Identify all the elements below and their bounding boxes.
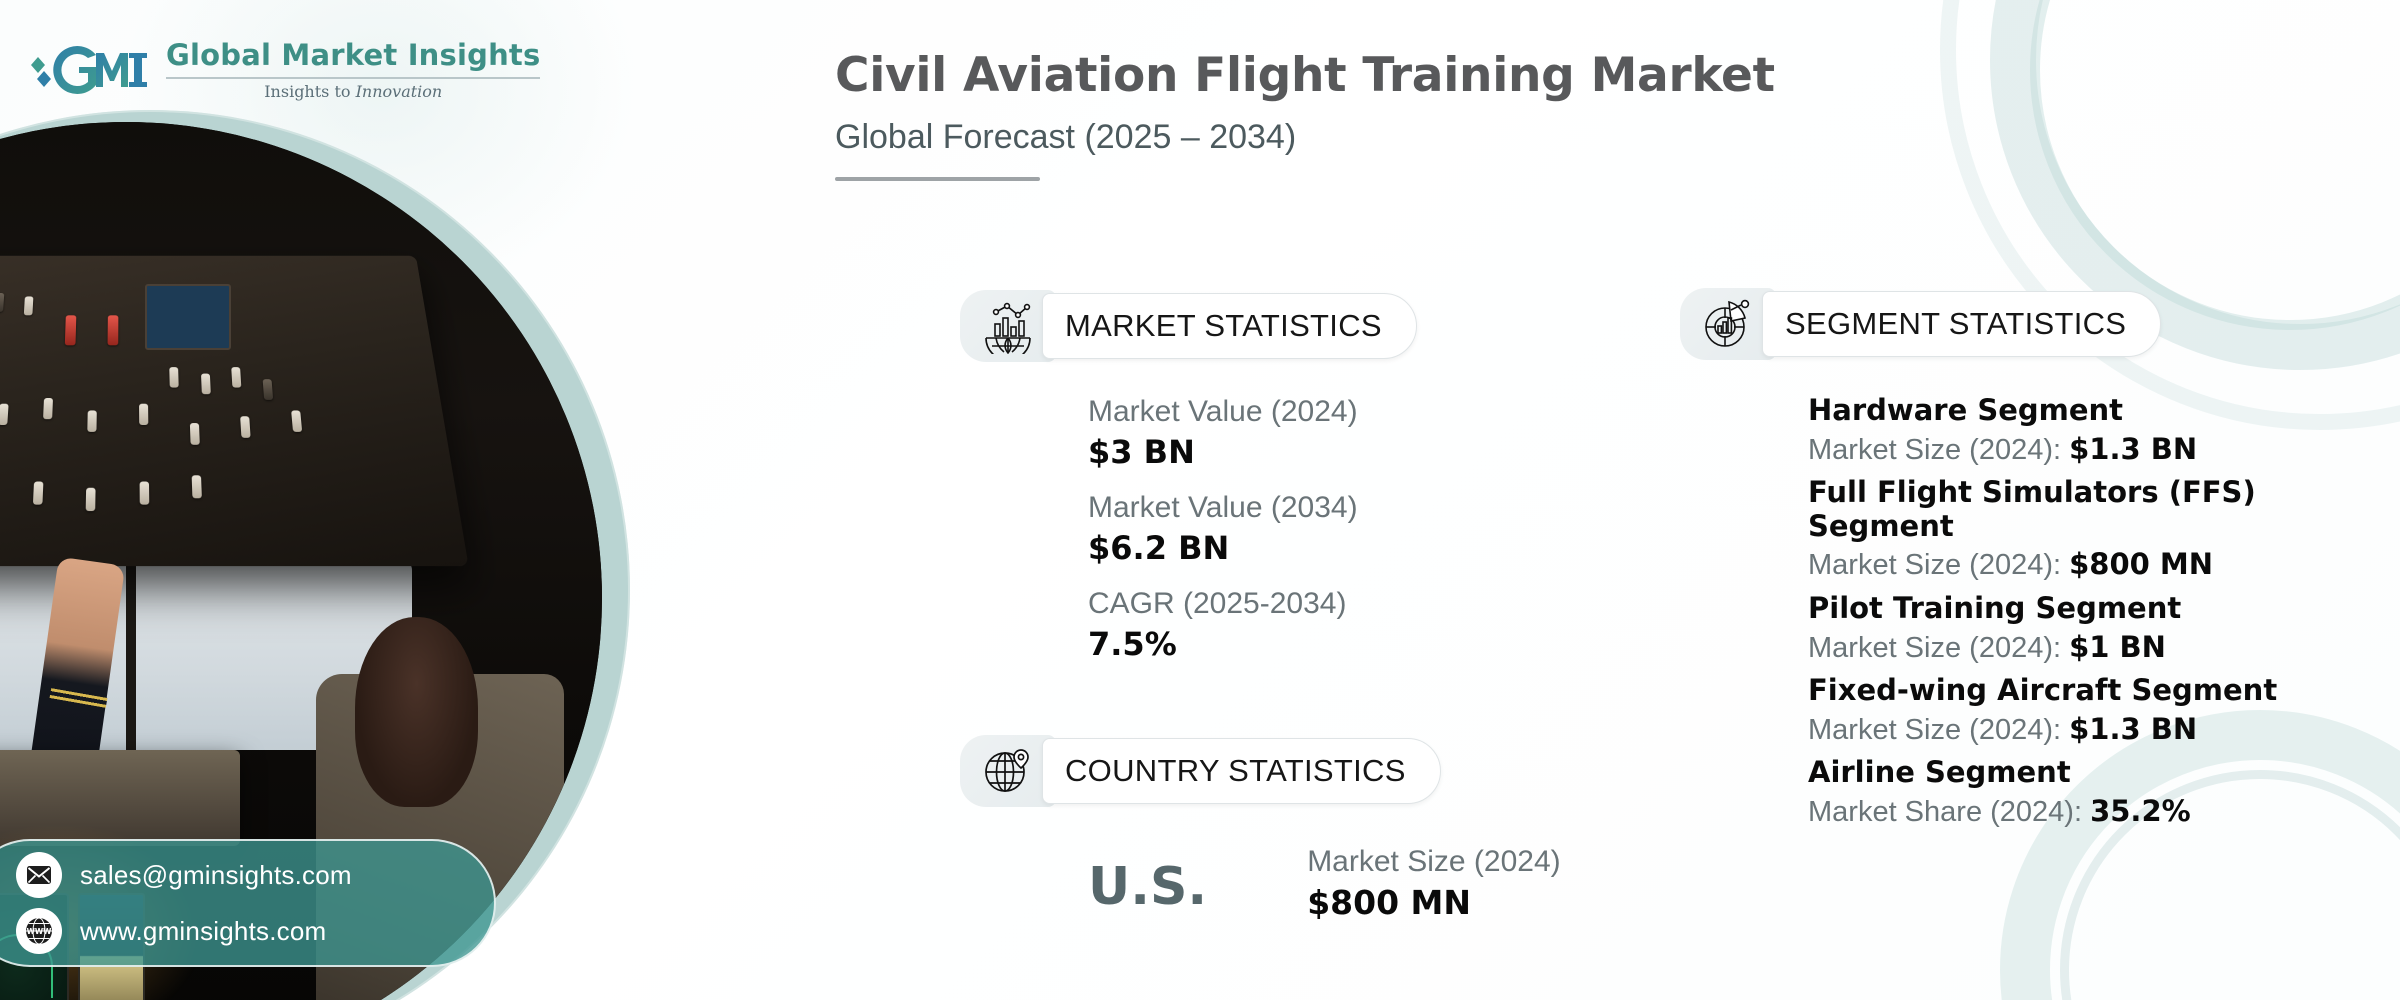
market-stat-label: Market Value (2034) <box>1088 491 1358 525</box>
country-stat-value: $800 MN <box>1307 883 1560 922</box>
segment-name: Fixed-wing Aircraft Segment <box>1808 674 2368 708</box>
brand-name: Global Market Insights <box>166 38 540 72</box>
segment-statistics-label: SEGMENT STATISTICS <box>1785 306 2126 342</box>
www-globe-icon: WWW <box>16 908 62 954</box>
tagline-italic: Innovation <box>356 82 443 101</box>
market-statistics-label: MARKET STATISTICS <box>1065 308 1382 344</box>
infographic-canvas: Global Market Insights Insights to Innov… <box>0 0 2400 1000</box>
country-stat-label: Market Size (2024) <box>1307 845 1560 879</box>
market-stat-label: CAGR (2025-2034) <box>1088 587 1358 621</box>
title-accent-rule <box>835 177 1040 181</box>
segment-item: Full Flight Simulators (FFS) Segment Mar… <box>1808 476 2368 588</box>
market-stat-row: Market Value (2024) $3 BN <box>1088 395 1358 471</box>
market-stat-row: Market Value (2034) $6.2 BN <box>1088 491 1358 567</box>
segment-item: Airline Segment Market Share (2024): 35.… <box>1808 756 2368 834</box>
segment-name: Hardware Segment <box>1808 394 2368 428</box>
market-stat-label: Market Value (2024) <box>1088 395 1358 429</box>
segment-item: Fixed-wing Aircraft Segment Market Size … <box>1808 674 2368 752</box>
gmi-logo-icon <box>30 41 152 99</box>
market-stat-value: $6.2 BN <box>1088 529 1358 567</box>
segment-name: Pilot Training Segment <box>1808 592 2368 626</box>
segment-metric: Market Size (2024): $1.3 BN <box>1808 708 2368 753</box>
contact-website-row[interactable]: WWW www.gminsights.com <box>16 908 494 954</box>
segment-item: Pilot Training Segment Market Size (2024… <box>1808 592 2368 670</box>
segment-metric-value: 35.2% <box>2090 794 2191 828</box>
segment-statistics-list: Hardware Segment Market Size (2024): $1.… <box>1808 394 2368 838</box>
segment-statistics-header: SEGMENT STATISTICS <box>1680 288 2161 360</box>
country-statistics-header: COUNTRY STATISTICS <box>960 735 1441 807</box>
market-statistics-header: MARKET STATISTICS <box>960 290 1417 362</box>
segment-metric-value: $1.3 BN <box>2069 432 2197 466</box>
country-statistics-body: U.S. Market Size (2024) $800 MN <box>1088 845 1561 922</box>
decorative-arc-top-right-outer <box>1940 0 2400 430</box>
contact-website: www.gminsights.com <box>80 916 326 947</box>
segment-item: Hardware Segment Market Size (2024): $1.… <box>1808 394 2368 472</box>
decorative-arc-top-right-inner <box>2030 0 2400 330</box>
brand-logo[interactable]: Global Market Insights Insights to Innov… <box>30 38 540 101</box>
segment-metric: Market Share (2024): 35.2% <box>1808 790 2368 835</box>
page-subtitle: Global Forecast (2025 – 2034) <box>835 118 1775 157</box>
contact-email-row[interactable]: sales@gminsights.com <box>16 852 494 898</box>
contact-panel: sales@gminsights.com WWW www.gminsights.… <box>0 839 496 967</box>
market-stat-row: CAGR (2025-2034) 7.5% <box>1088 587 1358 663</box>
segment-metric-value: $1 BN <box>2069 630 2166 664</box>
segment-metric-value: $800 MN <box>2069 547 2213 581</box>
brand-tagline: Insights to Innovation <box>166 82 540 101</box>
segment-metric-label: Market Size (2024): <box>1808 434 2069 466</box>
segment-metric-label: Market Size (2024): <box>1808 632 2069 664</box>
segment-statistics-pill: SEGMENT STATISTICS <box>1762 291 2161 357</box>
market-statistics-list: Market Value (2024) $3 BN Market Value (… <box>1088 395 1358 683</box>
logo-divider <box>166 77 540 79</box>
segment-metric: Market Size (2024): $1.3 BN <box>1808 428 2368 473</box>
tagline-prefix: Insights to <box>264 82 355 101</box>
segment-name: Airline Segment <box>1808 756 2368 790</box>
segment-metric-value: $1.3 BN <box>2069 712 2197 746</box>
market-stat-value: $3 BN <box>1088 433 1358 471</box>
envelope-icon <box>16 852 62 898</box>
segment-metric-label: Market Size (2024): <box>1808 714 2069 746</box>
svg-text:WWW: WWW <box>27 927 53 936</box>
contact-email: sales@gminsights.com <box>80 860 352 891</box>
segment-metric-label: Market Share (2024): <box>1808 796 2090 828</box>
country-name: U.S. <box>1088 861 1207 913</box>
market-stat-value: 7.5% <box>1088 625 1358 663</box>
overhead-panel <box>0 256 469 566</box>
segment-name: Full Flight Simulators (FFS) Segment <box>1808 476 2368 543</box>
page-title: Civil Aviation Flight Training Market <box>835 50 1775 102</box>
segment-metric: Market Size (2024): $800 MN <box>1808 543 2368 588</box>
header-block: Civil Aviation Flight Training Market Gl… <box>835 50 1775 181</box>
country-statistics-pill: COUNTRY STATISTICS <box>1042 738 1441 804</box>
market-statistics-pill: MARKET STATISTICS <box>1042 293 1417 359</box>
segment-metric-label: Market Size (2024): <box>1808 549 2069 581</box>
segment-metric: Market Size (2024): $1 BN <box>1808 626 2368 671</box>
country-statistics-label: COUNTRY STATISTICS <box>1065 753 1406 789</box>
